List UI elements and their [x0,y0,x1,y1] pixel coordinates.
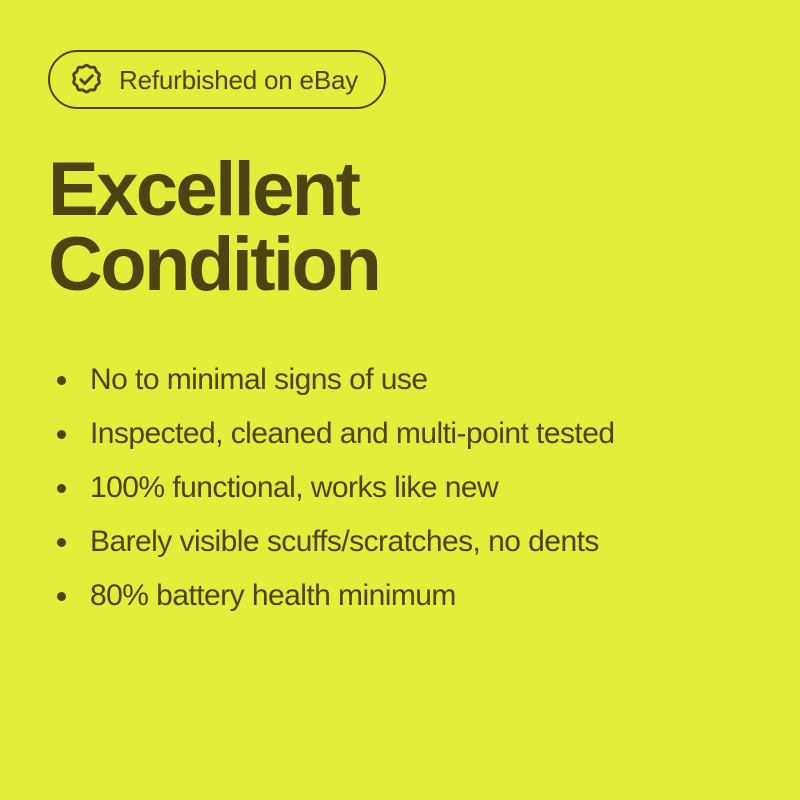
page-title-line-1: Excellent [48,152,748,227]
page-title: Excellent Condition [48,152,748,302]
bullet-dot-icon [48,578,90,614]
list-item: 100% functional, works like new [48,470,778,524]
page-title-line-2: Condition [48,227,748,302]
refurbished-badge: Refurbished on eBay [48,50,386,109]
list-item-label: Barely visible scuffs/scratches, no dent… [90,524,599,560]
refurbished-condition-card: Refurbished on eBay Excellent Condition … [0,0,800,800]
bullet-dot-icon [48,524,90,560]
list-item-label: Inspected, cleaned and multi-point teste… [90,416,614,452]
list-item: 80% battery health minimum [48,578,778,632]
refurbished-badge-label: Refurbished on eBay [119,67,358,93]
bullet-dot-icon [48,362,90,398]
list-item: No to minimal signs of use [48,362,778,416]
verified-rosette-check-icon [70,63,103,96]
list-item: Barely visible scuffs/scratches, no dent… [48,524,778,578]
list-item: Inspected, cleaned and multi-point teste… [48,416,778,470]
bullet-dot-icon [48,470,90,506]
list-item-label: No to minimal signs of use [90,362,428,398]
bullet-dot-icon [48,416,90,452]
list-item-label: 100% functional, works like new [90,470,498,506]
list-item-label: 80% battery health minimum [90,578,456,614]
condition-feature-list: No to minimal signs of use Inspected, cl… [48,362,778,632]
